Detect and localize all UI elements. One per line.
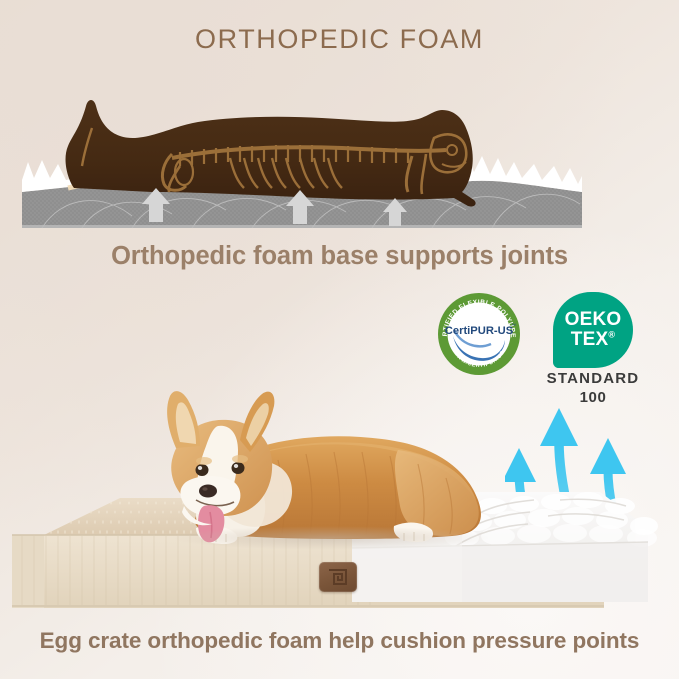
oeko-tex-line1: OEKO bbox=[565, 310, 622, 330]
caption-egg-crate: Egg crate orthopedic foam help cushion p… bbox=[0, 628, 679, 654]
brand-logo-patch bbox=[319, 562, 357, 592]
corgi-dog-photo bbox=[167, 391, 481, 544]
page-title: ORTHOPEDIC FOAM bbox=[0, 24, 679, 55]
dog-skeleton-on-foam-diagram bbox=[22, 88, 582, 234]
product-infographic: ORTHOPEDIC FOAM bbox=[0, 0, 679, 679]
caption-orthopedic-base: Orthopedic foam base supports joints bbox=[0, 242, 679, 271]
brand-spiral-icon bbox=[326, 567, 350, 587]
certipur-trademark: ™ bbox=[511, 323, 516, 329]
